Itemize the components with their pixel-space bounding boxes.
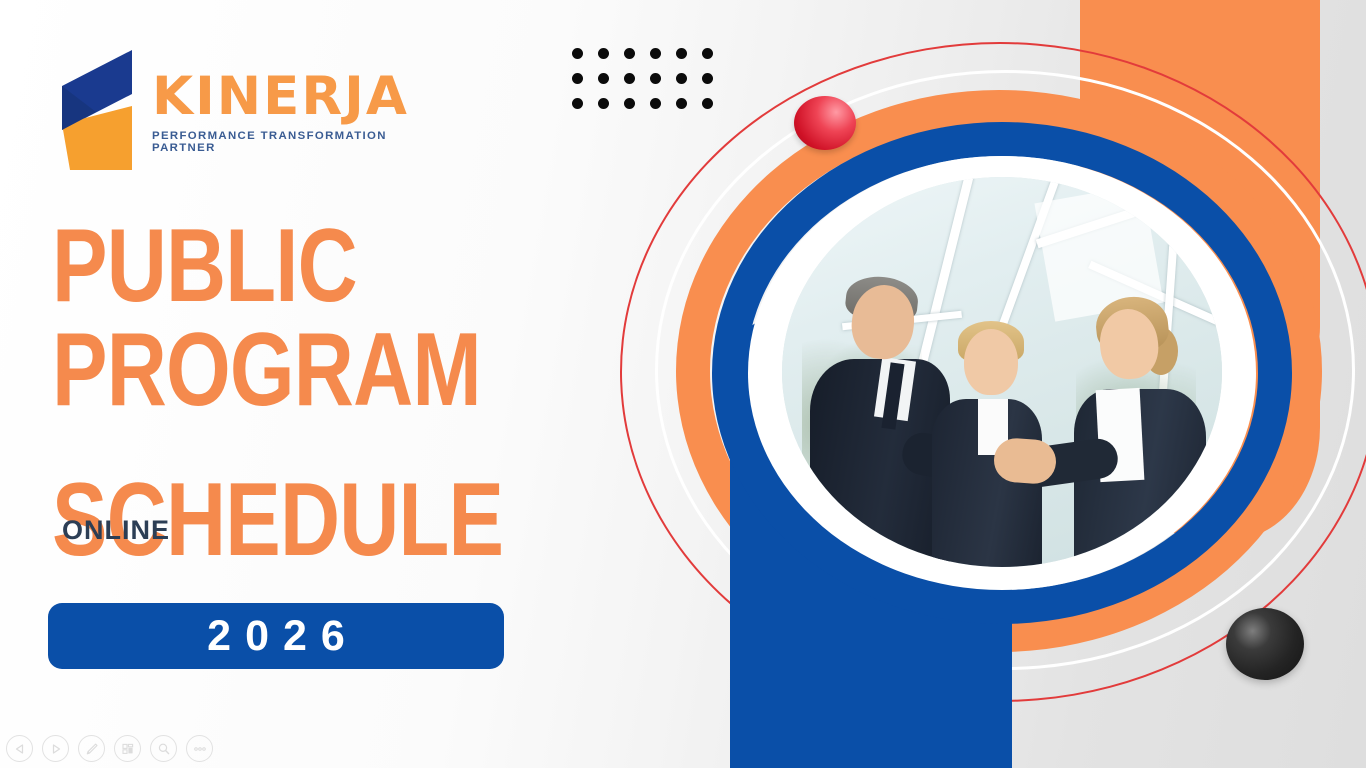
annotate-button[interactable] <box>78 735 105 762</box>
zoom-button[interactable] <box>150 735 177 762</box>
title-line-1: PUBLIC PROGRAM <box>52 214 500 422</box>
pen-icon <box>85 742 99 756</box>
next-slide-button[interactable] <box>42 735 69 762</box>
logo-wordmark: KINERJA <box>152 70 409 123</box>
kinerja-chevron-mark <box>56 48 138 172</box>
subtitle: ONLINE <box>62 515 170 546</box>
kinerja-logo: KINERJA PERFORMANCE TRANSFORMATION PARTN… <box>56 44 404 172</box>
year-badge: 2026 <box>48 603 504 669</box>
red-sphere <box>794 96 856 150</box>
magnifier-icon <box>157 742 171 756</box>
presentation-slide: KINERJA PERFORMANCE TRANSFORMATION PARTN… <box>0 0 1366 768</box>
dark-sphere <box>1226 608 1304 680</box>
more-options-button[interactable] <box>186 735 213 762</box>
handshake <box>993 437 1058 485</box>
dot-grid <box>572 48 728 123</box>
triangle-right-icon <box>50 743 62 755</box>
person-womanA-head <box>964 329 1018 395</box>
logo-tagline: PERFORMANCE TRANSFORMATION PARTNER <box>152 130 409 154</box>
presentation-toolbar <box>6 735 213 762</box>
grid-slides-icon <box>121 742 135 756</box>
triangle-left-icon <box>14 743 26 755</box>
ellipsis-icon <box>192 745 208 753</box>
slides-overview-button[interactable] <box>114 735 141 762</box>
previous-slide-button[interactable] <box>6 735 33 762</box>
year-value: 2026 <box>193 612 359 661</box>
hero-photo <box>782 177 1222 567</box>
